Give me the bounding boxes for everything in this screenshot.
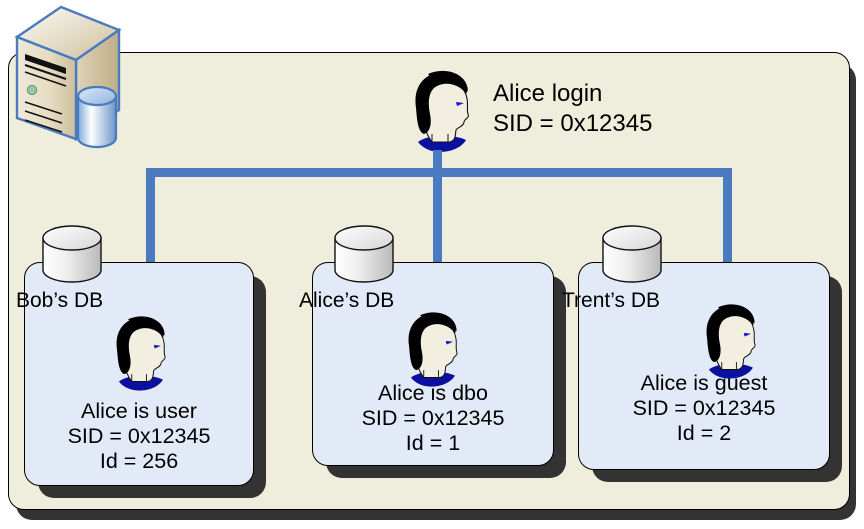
bobs-db-role: Alice is user (25, 399, 253, 424)
trents-db-sid: SID = 0x12345 (579, 396, 829, 421)
server-database-cylinder-icon (78, 87, 116, 147)
trents-db-label: Trent’s DB (562, 290, 660, 311)
alices-db-sid: SID = 0x12345 (313, 406, 553, 431)
login-name: Alice login (493, 79, 652, 109)
bobs-db-person-icon (100, 310, 180, 398)
login-person-icon (398, 64, 484, 160)
trents-db-id: Id = 2 (579, 421, 829, 446)
alices-db-person-icon (392, 306, 472, 394)
bobs-db-sid: SID = 0x12345 (25, 424, 253, 449)
alices-db-id: Id = 1 (313, 431, 553, 456)
alices-db-label: Alice’s DB (299, 290, 394, 311)
login-sid: SID = 0x12345 (493, 109, 652, 139)
trents-db-person-icon (690, 298, 770, 386)
bobs-db-id: Id = 256 (25, 449, 253, 474)
alices-db-cylinder-icon (330, 224, 398, 286)
server-tower-icon (4, 2, 124, 162)
login-label: Alice login SID = 0x12345 (493, 79, 652, 139)
bobs-db-label: Bob’s DB (16, 290, 103, 311)
trents-db-cylinder-icon (598, 224, 666, 286)
bobs-db-cylinder-icon (38, 224, 106, 286)
bobs-db-text: Alice is user SID = 0x12345 Id = 256 (25, 399, 253, 474)
